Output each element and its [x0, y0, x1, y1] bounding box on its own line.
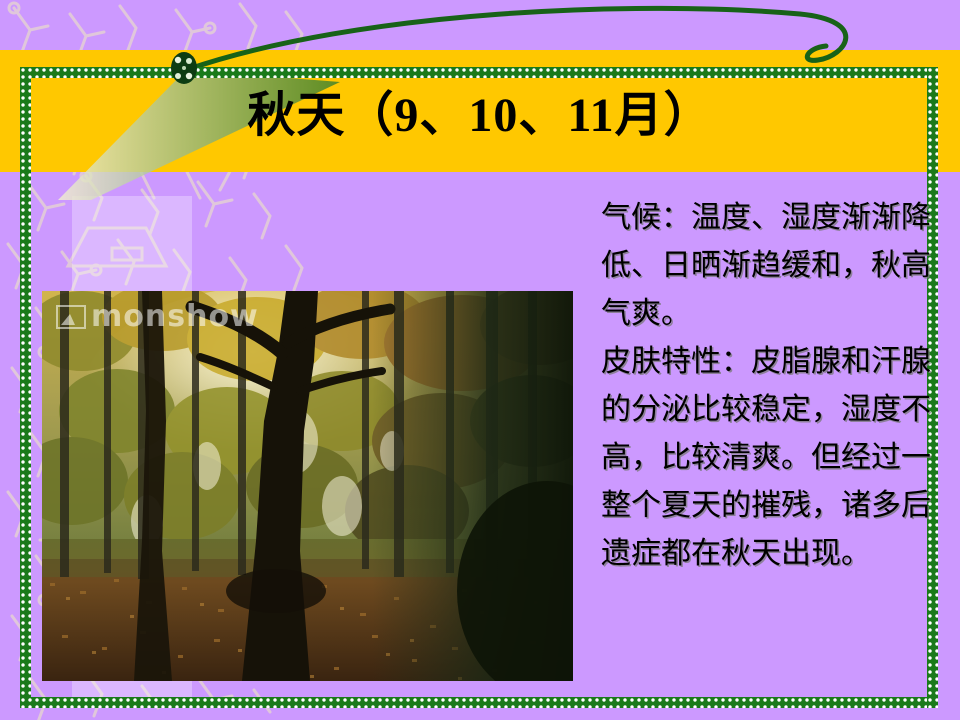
page-title: 秋天（9、10、11月） — [0, 92, 960, 140]
autumn-forest-photo: monshow — [42, 291, 573, 681]
photo-watermark: monshow — [56, 299, 259, 334]
body-paragraph-skin: 皮肤特性：皮脂腺和汗腺的分泌比较稳定，湿度不高，比较清爽。但经过一整个夏天的摧残… — [601, 338, 931, 578]
green-ball-ornament — [170, 51, 198, 85]
watermark-label: monshow — [91, 299, 259, 334]
body-text-block: 气候：温度、湿度渐渐降低、日晒渐趋缓和，秋高气爽。 皮肤特性：皮脂腺和汗腺的分泌… — [601, 194, 931, 578]
slide-canvas: 秋天（9、10、11月） — [0, 0, 960, 720]
body-paragraph-climate: 气候：温度、湿度渐渐降低、日晒渐趋缓和，秋高气爽。 — [601, 194, 931, 338]
watermark-logo-icon — [56, 305, 86, 329]
